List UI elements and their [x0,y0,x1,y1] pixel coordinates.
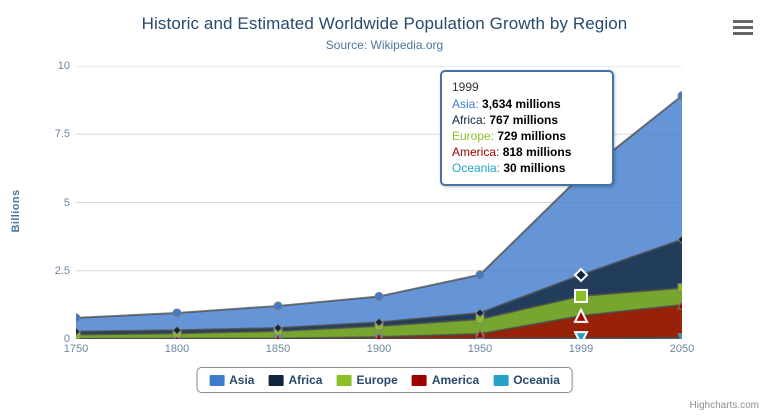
tooltip-row-asia: Asia: 3,634 millions [452,96,602,112]
point-asia-1850[interactable] [274,302,282,310]
legend-swatch-oceania [493,375,508,386]
point-europe-1999[interactable] [575,290,587,302]
tooltip-series-name: Asia: [452,97,482,111]
legend-swatch-africa [268,375,283,386]
tooltip-row-europe: Europe: 729 millions [452,128,602,144]
hamburger-bar-1 [733,20,753,23]
y-axis: Billions 02.557.510 [0,0,70,416]
credits-link[interactable]: Highcharts.com [690,400,759,411]
legend-swatch-asia [209,375,224,386]
point-asia-1750[interactable] [76,314,80,322]
chart-title: Historic and Estimated Worldwide Populat… [0,14,769,34]
tooltip-row-america: America: 818 millions [452,144,602,160]
y-axis-title: Billions [10,181,22,241]
point-europe-2050[interactable] [678,284,682,292]
hamburger-bar-3 [733,32,753,35]
point-asia-1950[interactable] [476,271,484,279]
tooltip: 1999 Asia: 3,634 millionsAfrica: 767 mil… [440,70,614,186]
point-asia-2050[interactable] [678,92,682,100]
y-axis-tick-10: 10 [10,60,70,72]
x-axis-tick-2050: 2050 [670,343,694,355]
legend-swatch-europe [336,375,351,386]
chart-legend: AsiaAfricaEuropeAmericaOceania [196,367,573,393]
hamburger-bar-2 [733,26,753,29]
y-axis-tick-0: 0 [10,333,70,345]
point-oceania-1999[interactable] [575,332,587,339]
hamburger-menu-icon[interactable] [731,16,755,38]
tooltip-series-name: America: [452,145,503,159]
legend-item-america[interactable]: America [412,373,479,387]
y-axis-tick-7.5: 7.5 [10,128,70,140]
x-axis-tick-1900: 1900 [367,343,391,355]
y-axis-tick-5: 5 [10,197,70,209]
x-axis-tick-1750: 1750 [64,343,88,355]
point-asia-1800[interactable] [173,309,181,317]
tooltip-series-value: 30 millions [503,161,565,175]
legend-label-oceania: Oceania [513,373,560,387]
tooltip-series-value: 3,634 millions [482,97,561,111]
tooltip-series-value: 729 millions [497,129,566,143]
tooltip-series-name: Africa: [452,113,489,127]
legend-item-africa[interactable]: Africa [268,373,322,387]
legend-item-europe[interactable]: Europe [336,373,397,387]
tooltip-series-value: 767 millions [489,113,558,127]
highcharts-chart-container: Historic and Estimated Worldwide Populat… [0,0,769,416]
tooltip-series-name: Oceania: [452,161,503,175]
legend-label-asia: Asia [229,373,254,387]
legend-label-america: America [432,373,479,387]
x-axis-tick-1800: 1800 [165,343,189,355]
y-axis-tick-2.5: 2.5 [10,265,70,277]
x-axis-tick-1950: 1950 [468,343,492,355]
tooltip-header: 1999 [452,79,602,95]
x-axis-tick-1850: 1850 [266,343,290,355]
legend-item-oceania[interactable]: Oceania [493,373,560,387]
legend-swatch-america [412,375,427,386]
point-asia-1900[interactable] [375,292,383,300]
x-axis-tick-1999: 1999 [569,343,593,355]
tooltip-row-africa: Africa: 767 millions [452,112,602,128]
tooltip-row-oceania: Oceania: 30 millions [452,160,602,176]
chart-subtitle: Source: Wikipedia.org [0,38,769,52]
tooltip-series-value: 818 millions [503,145,572,159]
tooltip-rows: Asia: 3,634 millionsAfrica: 767 millions… [452,96,602,176]
legend-label-europe: Europe [356,373,397,387]
legend-label-africa: Africa [288,373,322,387]
x-axis: 1750180018501900195019992050 [76,343,682,363]
legend-item-asia[interactable]: Asia [209,373,254,387]
tooltip-series-name: Europe: [452,129,497,143]
